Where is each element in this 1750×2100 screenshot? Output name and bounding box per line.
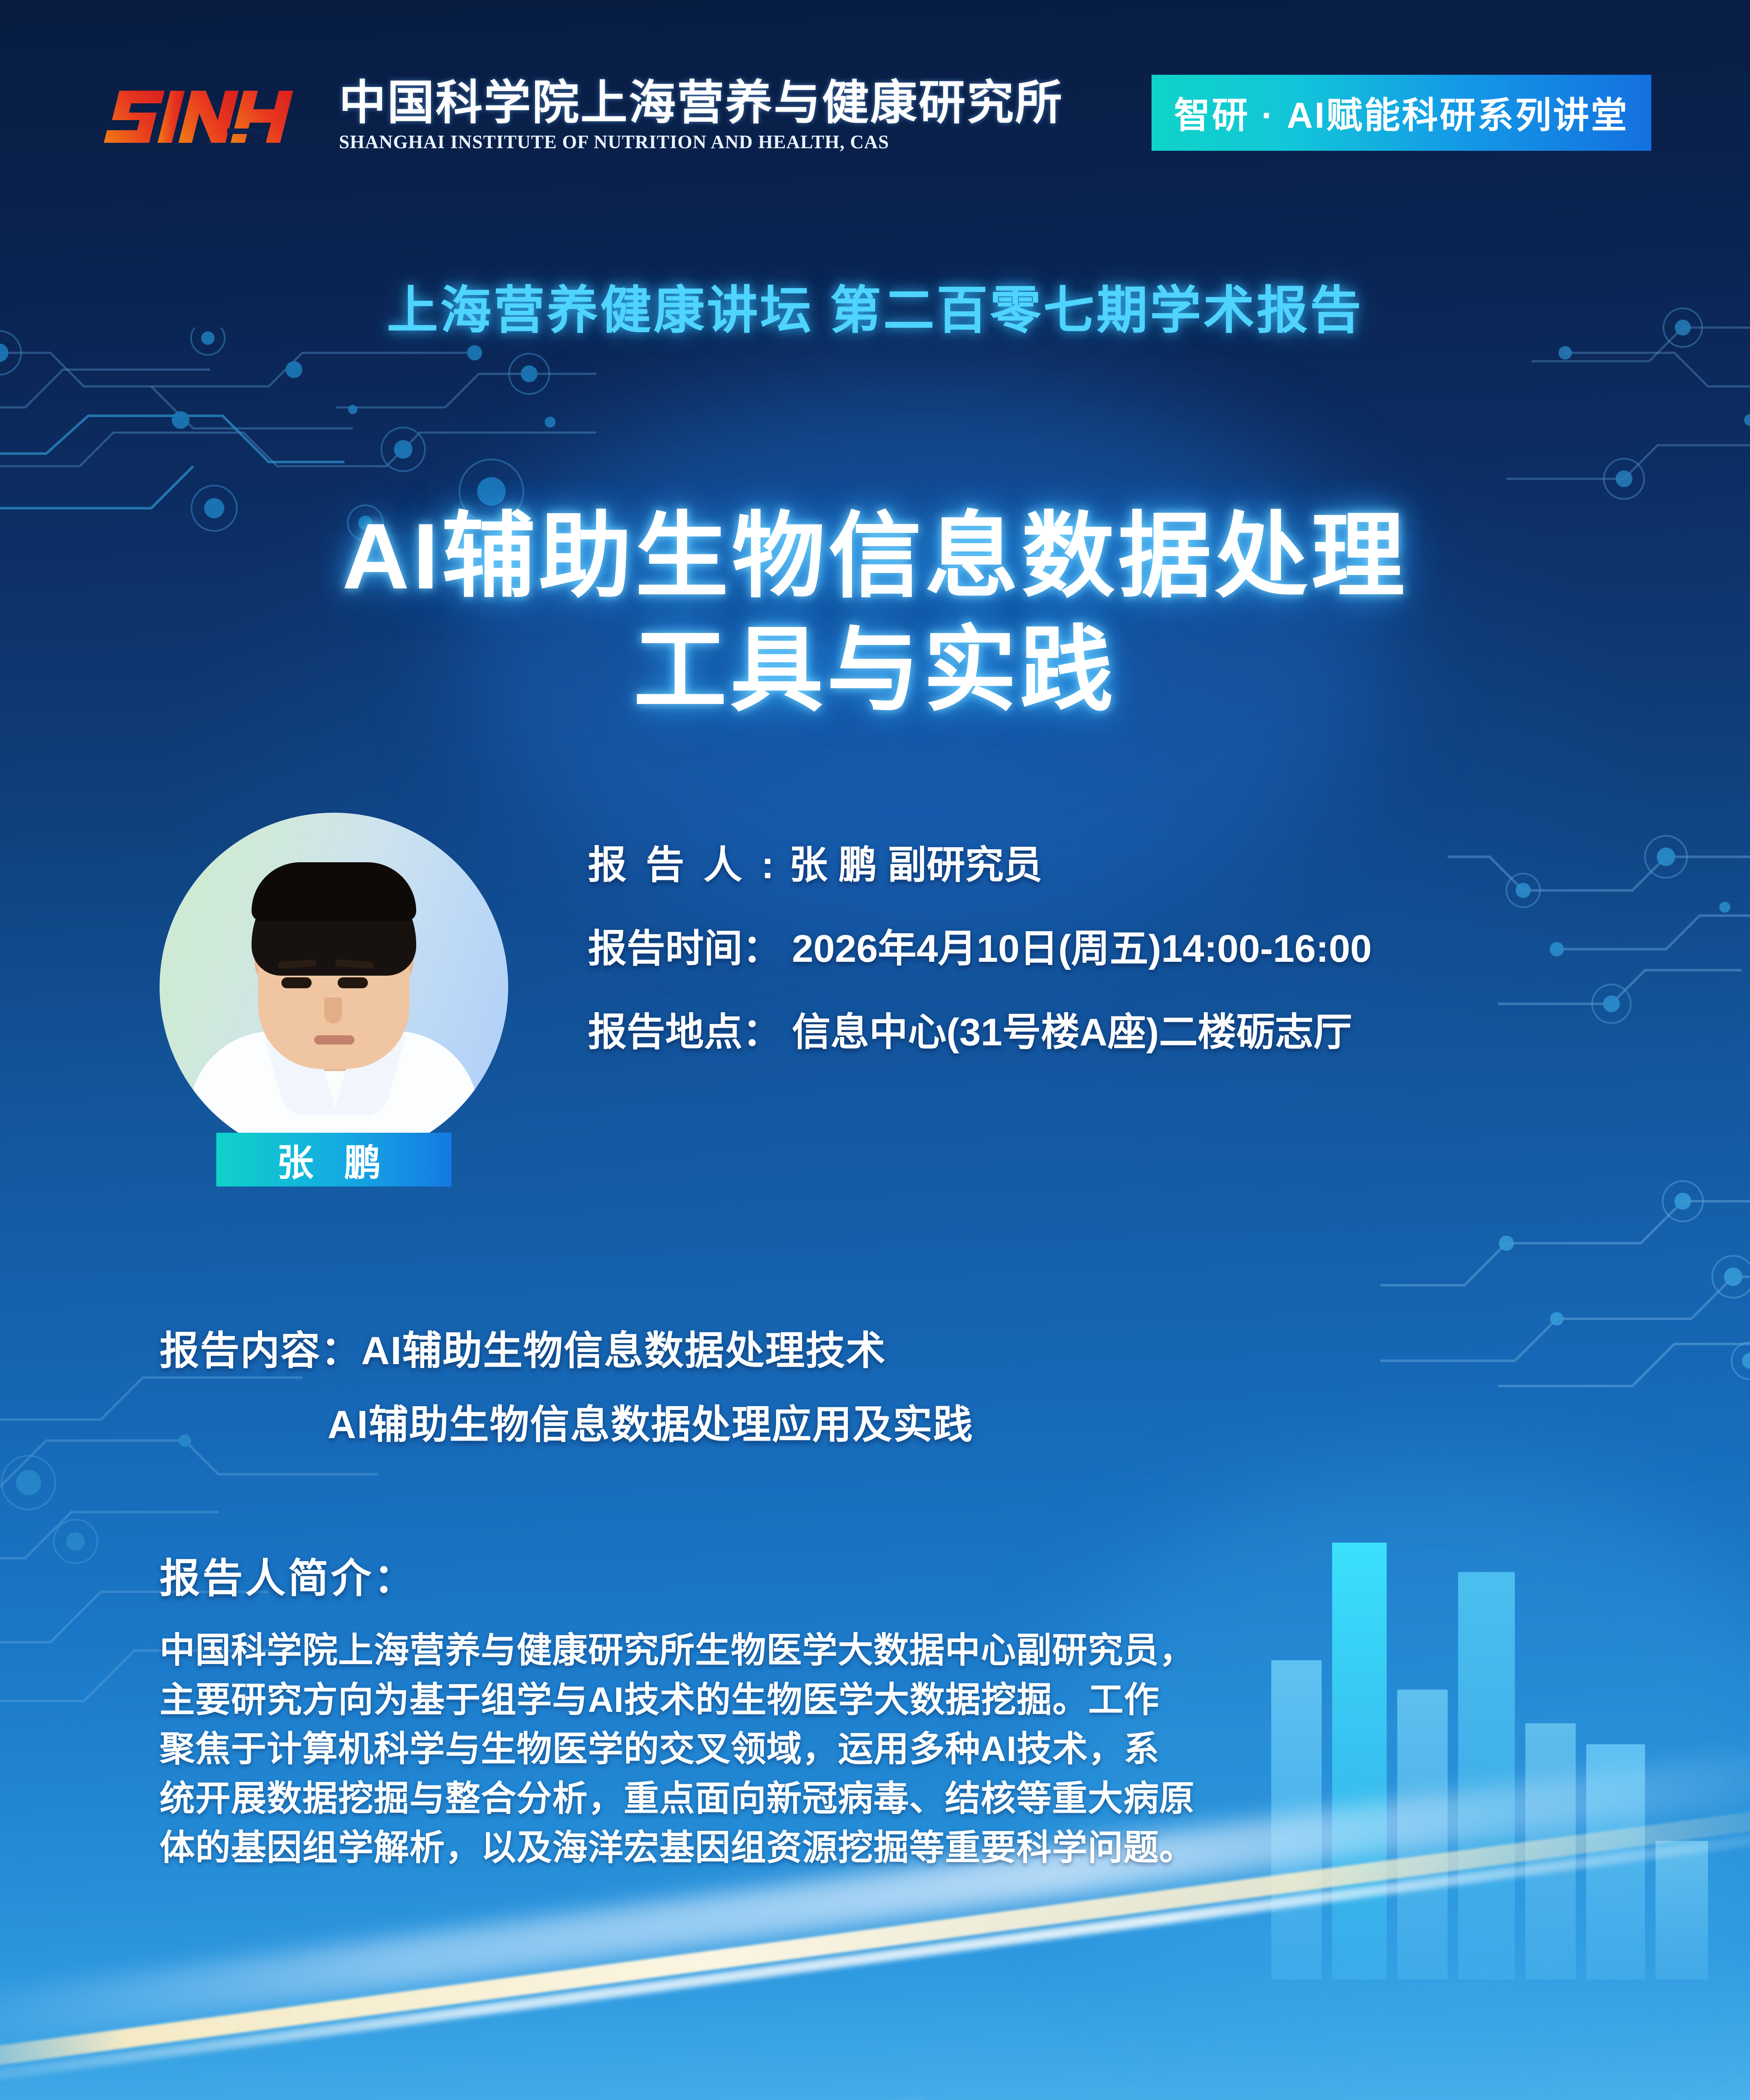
series-badge: 智研 · AI赋能科研系列讲堂 — [1152, 75, 1651, 151]
presenter-row: 报 告 人 : 张 鹏 副研究员 — [588, 834, 1372, 890]
forum-subtitle: 上海营养健康讲坛 第二百零七期学术报告 — [0, 269, 1750, 343]
speaker-name-badge: 张 鹏 — [216, 1133, 451, 1186]
talk-content-section: 报告内容：AI辅助生物信息数据处理技术 AI辅助生物信息数据处理应用及实践 — [160, 1319, 973, 1467]
bio-body: 中国科学院上海营养与健康研究所生物医学大数据中心副研究员， 主要研究方向为基于组… — [160, 1626, 1596, 1873]
bio-line: 聚焦于计算机科学与生物医学的交叉领域，运用多种AI技术，系 — [160, 1725, 1596, 1774]
presenter-label: 报 告 人 : — [588, 844, 778, 887]
venue-row: 报告地点： 信息中心(31号楼A座)二楼砺志厅 — [588, 1001, 1372, 1057]
speaker-photo-column: 张 鹏 — [160, 813, 538, 1161]
series-badge-label: 智研 · AI赋能科研系列讲堂 — [1174, 95, 1629, 136]
sinh-logo-icon — [103, 76, 321, 155]
speaker-bio-section: 报告人简介： 中国科学院上海营养与健康研究所生物医学大数据中心副研究员， 主要研… — [160, 1546, 1596, 1873]
venue-label: 报告地点： — [588, 1011, 781, 1054]
speaker-section: 张 鹏 报 告 人 : 张 鹏 副研究员 报告时间： 2026年4月10日(周五… — [0, 813, 1750, 1191]
bio-line: 中国科学院上海营养与健康研究所生物医学大数据中心副研究员， — [160, 1626, 1596, 1675]
time-row: 报告时间： 2026年4月10日(周五)14:00-16:00 — [588, 917, 1372, 973]
light-streak-small-left — [713, 2097, 928, 2100]
title-line-2: 工具与实践 — [0, 614, 1750, 727]
content-line-2: AI辅助生物信息数据处理应用及实践 — [328, 1402, 973, 1446]
speaker-portrait — [160, 813, 508, 1161]
bio-line: 体的基因组学解析，以及海洋宏基因组资源挖掘等重要科学问题。 — [160, 1823, 1596, 1873]
content-row-1: 报告内容：AI辅助生物信息数据处理技术 — [160, 1319, 973, 1376]
poster-root: 中国科学院上海营养与健康研究所 SHANGHAI INSTITUTE OF NU… — [0, 0, 1750, 2100]
bio-heading: 报告人简介： — [160, 1546, 1596, 1604]
speaker-info-column: 报 告 人 : 张 鹏 副研究员 报告时间： 2026年4月10日(周五)14:… — [588, 834, 1372, 1084]
speaker-name-label: 张 鹏 — [277, 1133, 391, 1186]
time-value: 2026年4月10日(周五)14:00-16:00 — [792, 927, 1372, 970]
content-label: 报告内容： — [160, 1328, 361, 1373]
bio-line: 统开展数据挖掘与整合分析，重点面向新冠病毒、结核等重大病原 — [160, 1774, 1596, 1824]
time-label: 报告时间： — [588, 927, 781, 970]
venue-value: 信息中心(31号楼A座)二楼砺志厅 — [792, 1011, 1352, 1054]
institute-name-en: SHANGHAI INSTITUTE OF NUTRITION AND HEAL… — [339, 131, 1063, 153]
institute-name-block: 中国科学院上海营养与健康研究所 SHANGHAI INSTITUTE OF NU… — [339, 78, 1063, 153]
page-title: AI辅助生物信息数据处理 工具与实践 — [0, 500, 1750, 727]
content-line-1: AI辅助生物信息数据处理技术 — [361, 1328, 886, 1373]
bio-line: 主要研究方向为基于组学与AI技术的生物医学大数据挖掘。工作 — [160, 1675, 1596, 1725]
poster-header: 中国科学院上海营养与健康研究所 SHANGHAI INSTITUTE OF NU… — [0, 67, 1750, 168]
institute-name-cn: 中国科学院上海营养与健康研究所 — [339, 78, 1063, 128]
content-row-2: AI辅助生物信息数据处理应用及实践 — [160, 1393, 973, 1450]
institute-logo-block: 中国科学院上海营养与健康研究所 SHANGHAI INSTITUTE OF NU… — [103, 76, 1063, 155]
title-line-1: AI辅助生物信息数据处理 — [0, 500, 1750, 614]
presenter-value: 张 鹏 副研究员 — [789, 844, 1042, 887]
